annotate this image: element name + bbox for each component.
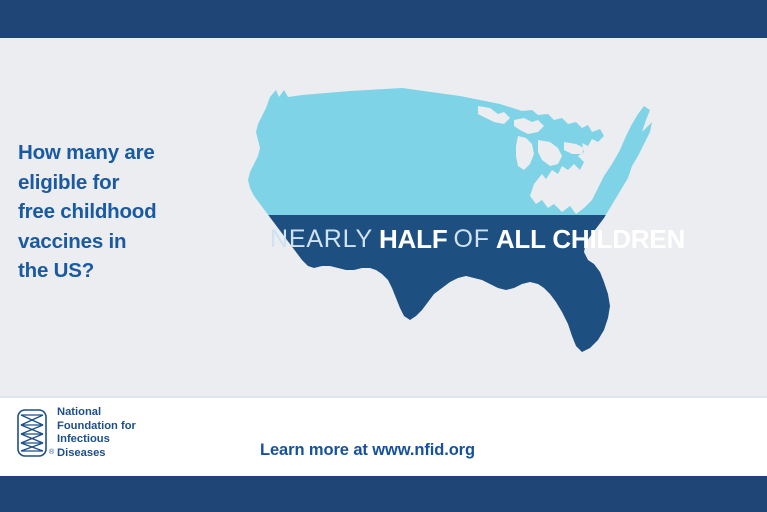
- headline-line-5: the US?: [18, 256, 218, 286]
- headline-line-2: eligible for: [18, 168, 218, 198]
- logo-line-1: National: [57, 406, 136, 420]
- logo-line-3: Infectious: [57, 433, 136, 447]
- registered-trademark-icon: ®: [49, 446, 54, 460]
- us-map-graphic: [232, 84, 682, 374]
- logo-line-2: Foundation for: [57, 420, 136, 434]
- map-lower-region: [232, 215, 682, 374]
- us-map-svg: [232, 84, 682, 374]
- headline-line-3: free childhood: [18, 197, 218, 227]
- learn-more-link[interactable]: Learn more at www.nfid.org: [260, 441, 475, 460]
- nfid-logo[interactable]: National Foundation for Infectious Disea…: [16, 406, 136, 460]
- dna-helix-icon: [16, 408, 48, 458]
- logo-line-4: Diseases: [57, 447, 136, 461]
- headline-line-4: vaccines in: [18, 227, 218, 257]
- infographic-canvas: How many are eligible for free childhood…: [0, 0, 767, 512]
- bottom-navy-bar: [0, 476, 767, 512]
- nfid-logo-text: National Foundation for Infectious Disea…: [57, 406, 136, 460]
- headline-line-1: How many are: [18, 138, 218, 168]
- map-upper-region: [232, 84, 682, 215]
- headline-question: How many are eligible for free childhood…: [18, 138, 218, 286]
- top-navy-bar: [0, 0, 767, 38]
